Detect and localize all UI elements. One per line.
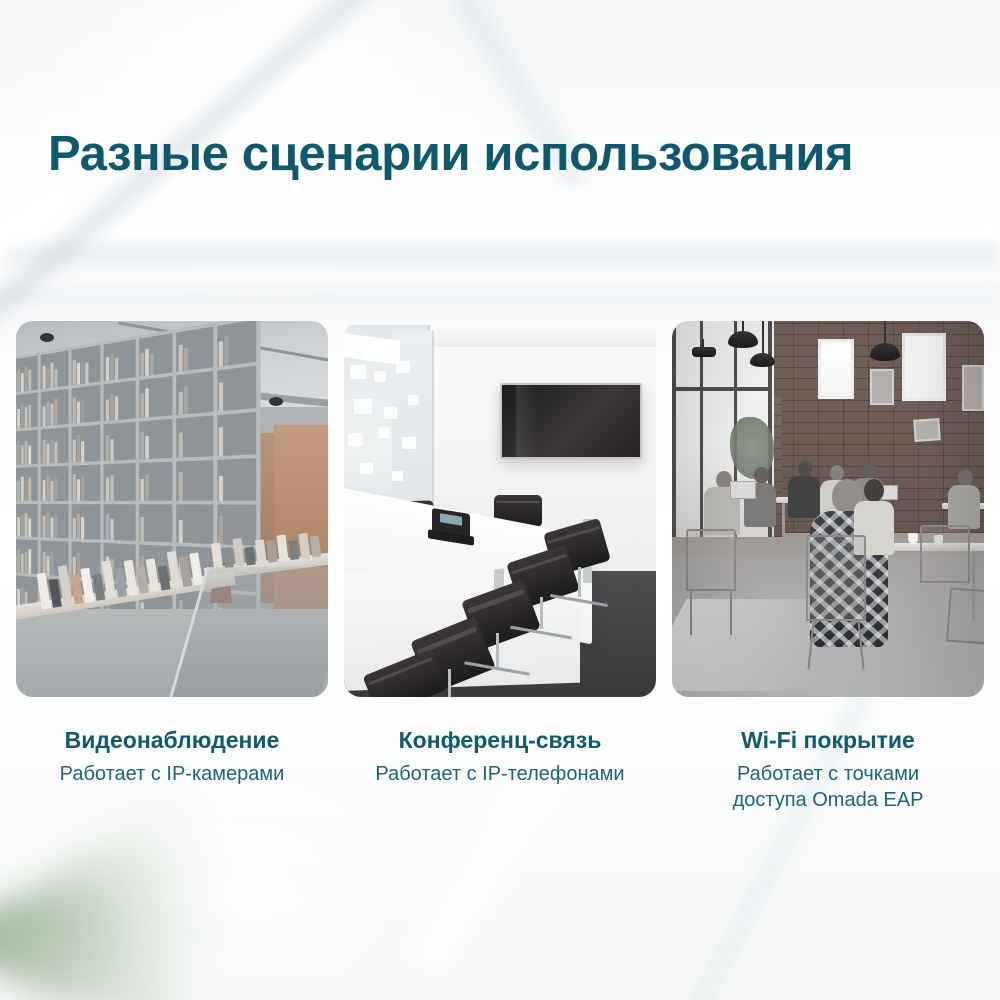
background-band-lower — [0, 286, 1000, 306]
scenario-card-video-surveillance[interactable]: Видеонаблюдение Работает с IP-камерами — [16, 321, 328, 813]
conference-room-photo — [344, 321, 656, 697]
page-title: Разные сценарии использования — [48, 126, 958, 182]
cafe-coworking-photo — [672, 321, 984, 697]
scenario-card-conference[interactable]: Конференц-связь Работает с IP-телефонами — [344, 321, 656, 813]
card-title: Видеонаблюдение — [16, 727, 328, 755]
card-subtitle: Работает с точками доступа Omada EAP — [672, 761, 984, 814]
library-bookstore-photo — [16, 321, 328, 697]
card-title: Конференц-связь — [344, 727, 656, 755]
card-subtitle: Работает с IP-телефонами — [344, 761, 656, 787]
scenario-card-wifi[interactable]: Wi-Fi покрытие Работает с точками доступ… — [672, 321, 984, 813]
card-caption: Wi-Fi покрытие Работает с точками доступ… — [672, 727, 984, 813]
card-subtitle: Работает с IP-камерами — [16, 761, 328, 787]
card-caption: Видеонаблюдение Работает с IP-камерами — [16, 727, 328, 787]
card-caption: Конференц-связь Работает с IP-телефонами — [344, 727, 656, 787]
card-title: Wi-Fi покрытие — [672, 727, 984, 755]
background-band-upper — [0, 238, 1000, 272]
wall-mounted-display-icon — [500, 383, 642, 459]
scenario-card-row: Видеонаблюдение Работает с IP-камерами — [16, 321, 984, 813]
slide-root: Разные сценарии использования — [0, 0, 1000, 1000]
